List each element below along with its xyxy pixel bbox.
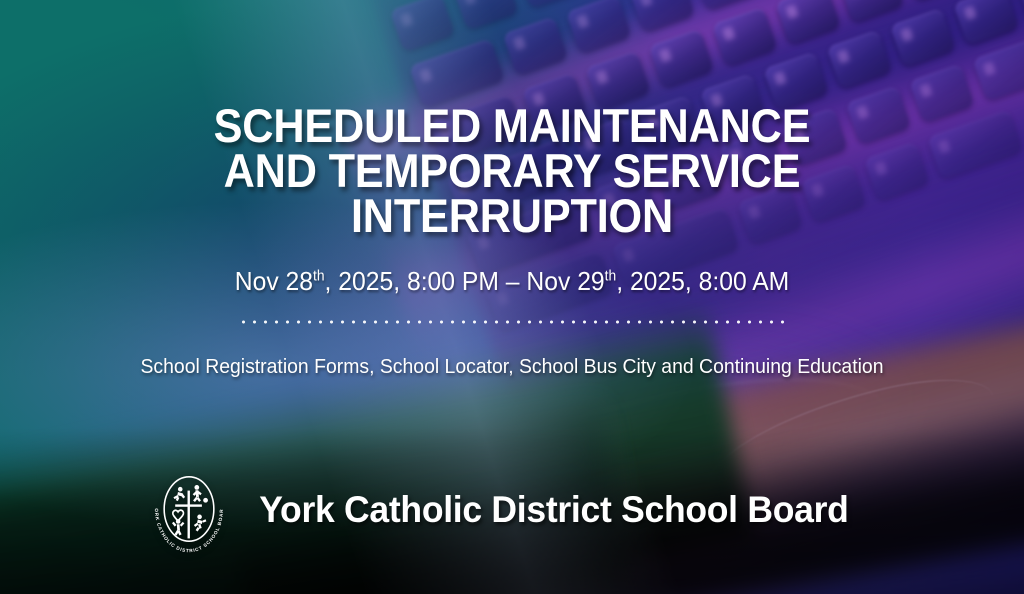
headline-line-3: INTERRUPTION: [41, 193, 983, 238]
end-ordinal: th: [605, 268, 617, 284]
banner-content: SCHEDULED MAINTENANCE AND TEMPORARY SERV…: [0, 0, 1024, 594]
organization-name: York Catholic District School Board: [259, 489, 848, 531]
end-date: Nov 29: [526, 266, 604, 296]
dotted-divider: [238, 320, 786, 324]
start-ordinal: th: [313, 268, 325, 284]
start-time: , 2025, 8:00 PM: [325, 266, 499, 296]
affected-services-text: School Registration Forms, School Locato…: [15, 356, 1008, 379]
maintenance-notice-banner: SCHEDULED MAINTENANCE AND TEMPORARY SERV…: [0, 0, 1024, 594]
logo-lockup: YORK CATHOLIC DISTRICT SCHOOL BOARD York…: [143, 463, 861, 555]
maintenance-window: Nov 28th, 2025, 8:00 PM – Nov 29th, 2025…: [26, 266, 999, 297]
headline-line-2: AND TEMPORARY SERVICE: [41, 148, 983, 193]
school-board-crest-icon: YORK CATHOLIC DISTRICT SCHOOL BOARD: [143, 463, 235, 555]
headline-line-1: SCHEDULED MAINTENANCE: [41, 103, 983, 148]
headline: SCHEDULED MAINTENANCE AND TEMPORARY SERV…: [41, 103, 983, 238]
start-date: Nov 28: [235, 266, 313, 296]
range-separator: –: [499, 266, 526, 296]
end-time: , 2025, 8:00 AM: [616, 266, 789, 296]
